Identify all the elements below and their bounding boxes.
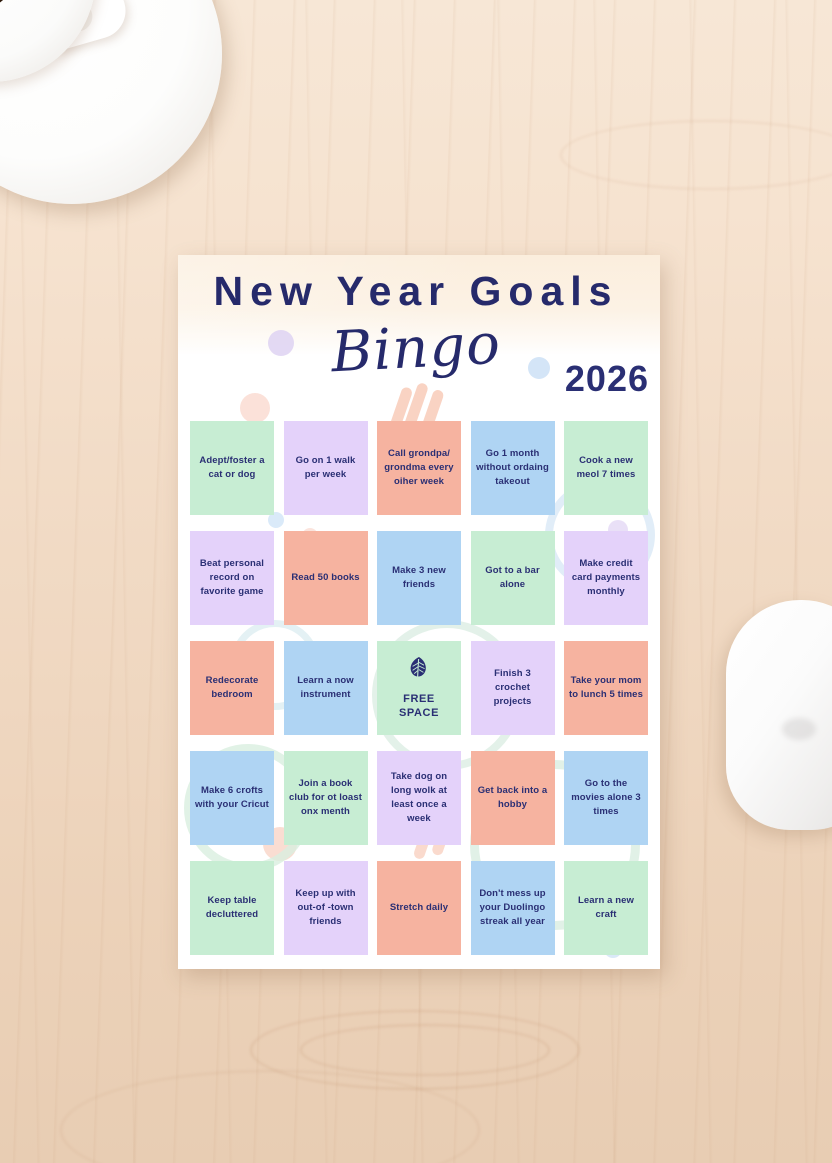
bingo-cell-label: Keep up with out-of -town friends	[289, 887, 363, 928]
wood-knot	[300, 1024, 550, 1076]
bingo-cell-label: Cook a new meol 7 times	[569, 454, 643, 482]
bingo-cell[interactable]: Take dog on long wolk at least once a we…	[377, 751, 461, 845]
bingo-cell-label: Get back into a hobby	[476, 784, 550, 812]
bingo-cell[interactable]: Make credit card payments monthly	[564, 531, 648, 625]
bingo-cell-label: Make 6 crofts with your Cricut	[195, 784, 269, 812]
wood-knot	[560, 120, 832, 190]
year-label: 2026	[565, 358, 649, 400]
bingo-cell[interactable]: Learn a new craft	[564, 861, 648, 955]
bingo-cell-label: Don't mess up your Duolingo streak all y…	[476, 887, 550, 928]
bingo-cell-label: Join a book club for ot loast onx menth	[289, 777, 363, 818]
bingo-cell[interactable]: Join a book club for ot loast onx menth	[284, 751, 368, 845]
bingo-cell-label: Redecorate bedroom	[195, 674, 269, 702]
bingo-cell-label: Take dog on long wolk at least once a we…	[382, 770, 456, 825]
bingo-cell-label: Adept/foster a cat or dog	[195, 454, 269, 482]
bingo-cell[interactable]: Go to the movies alone 3 times	[564, 751, 648, 845]
bingo-cell-label: Go on 1 walk per week	[289, 454, 363, 482]
free-space-label-line2: SPACE	[399, 706, 439, 720]
bingo-cell[interactable]: Cook a new meol 7 times	[564, 421, 648, 515]
bingo-cell[interactable]: Adept/foster a cat or dog	[190, 421, 274, 515]
bingo-cell[interactable]: Go 1 month without ordaing takeout	[471, 421, 555, 515]
bingo-cell-label: Beat personal record on favorite game	[195, 557, 269, 598]
bingo-cell[interactable]: Finish 3 crochet projects	[471, 641, 555, 735]
bingo-cell-label: Finish 3 crochet projects	[476, 667, 550, 708]
bingo-cell-label: Got to a bar alone	[476, 564, 550, 592]
bingo-cell-free-space[interactable]: FREESPACE	[377, 641, 461, 735]
bingo-cell-label: Make 3 new friends	[382, 564, 456, 592]
leaf-icon	[408, 656, 430, 687]
bingo-cell[interactable]: Make 3 new friends	[377, 531, 461, 625]
bingo-cell[interactable]: Keep up with out-of -town friends	[284, 861, 368, 955]
bingo-cell[interactable]: Go on 1 walk per week	[284, 421, 368, 515]
bingo-cell[interactable]: Get back into a hobby	[471, 751, 555, 845]
bingo-cell-label: Take your mom to lunch 5 times	[569, 674, 643, 702]
bingo-cell[interactable]: Learn a now instrument	[284, 641, 368, 735]
bingo-cell[interactable]: Read 50 books	[284, 531, 368, 625]
bingo-cell[interactable]: Redecorate bedroom	[190, 641, 274, 735]
bingo-cell-label: Go to the movies alone 3 times	[569, 777, 643, 818]
bingo-cell[interactable]: Got to a bar alone	[471, 531, 555, 625]
computer-mouse	[726, 600, 832, 830]
bingo-cell[interactable]: Beat personal record on favorite game	[190, 531, 274, 625]
bingo-grid: Adept/foster a cat or dogGo on 1 walk pe…	[190, 421, 648, 955]
bingo-cell[interactable]: Don't mess up your Duolingo streak all y…	[471, 861, 555, 955]
desk-scene: New Year Goals Bingo 2026 Adept/foster a…	[0, 0, 832, 1163]
bingo-cell[interactable]: Take your mom to lunch 5 times	[564, 641, 648, 735]
bingo-cell-label: Stretch daily	[390, 901, 448, 915]
free-space-label-line1: FREE	[403, 692, 435, 706]
bingo-cell-label: Keep table decluttered	[195, 894, 269, 922]
bingo-cell-label: Call grondpa/ grondma every oiher week	[382, 447, 456, 488]
bingo-cell[interactable]: Keep table decluttered	[190, 861, 274, 955]
bingo-cell-label: Make credit card payments monthly	[569, 557, 643, 598]
bingo-cell[interactable]: Make 6 crofts with your Cricut	[190, 751, 274, 845]
bingo-cell-label: Learn a now instrument	[289, 674, 363, 702]
bingo-cell-label: Learn a new craft	[569, 894, 643, 922]
bingo-cell-label: Go 1 month without ordaing takeout	[476, 447, 550, 488]
bingo-cell[interactable]: Call grondpa/ grondma every oiher week	[377, 421, 461, 515]
bingo-cell[interactable]: Stretch daily	[377, 861, 461, 955]
bingo-cell-label: Read 50 books	[291, 571, 359, 585]
